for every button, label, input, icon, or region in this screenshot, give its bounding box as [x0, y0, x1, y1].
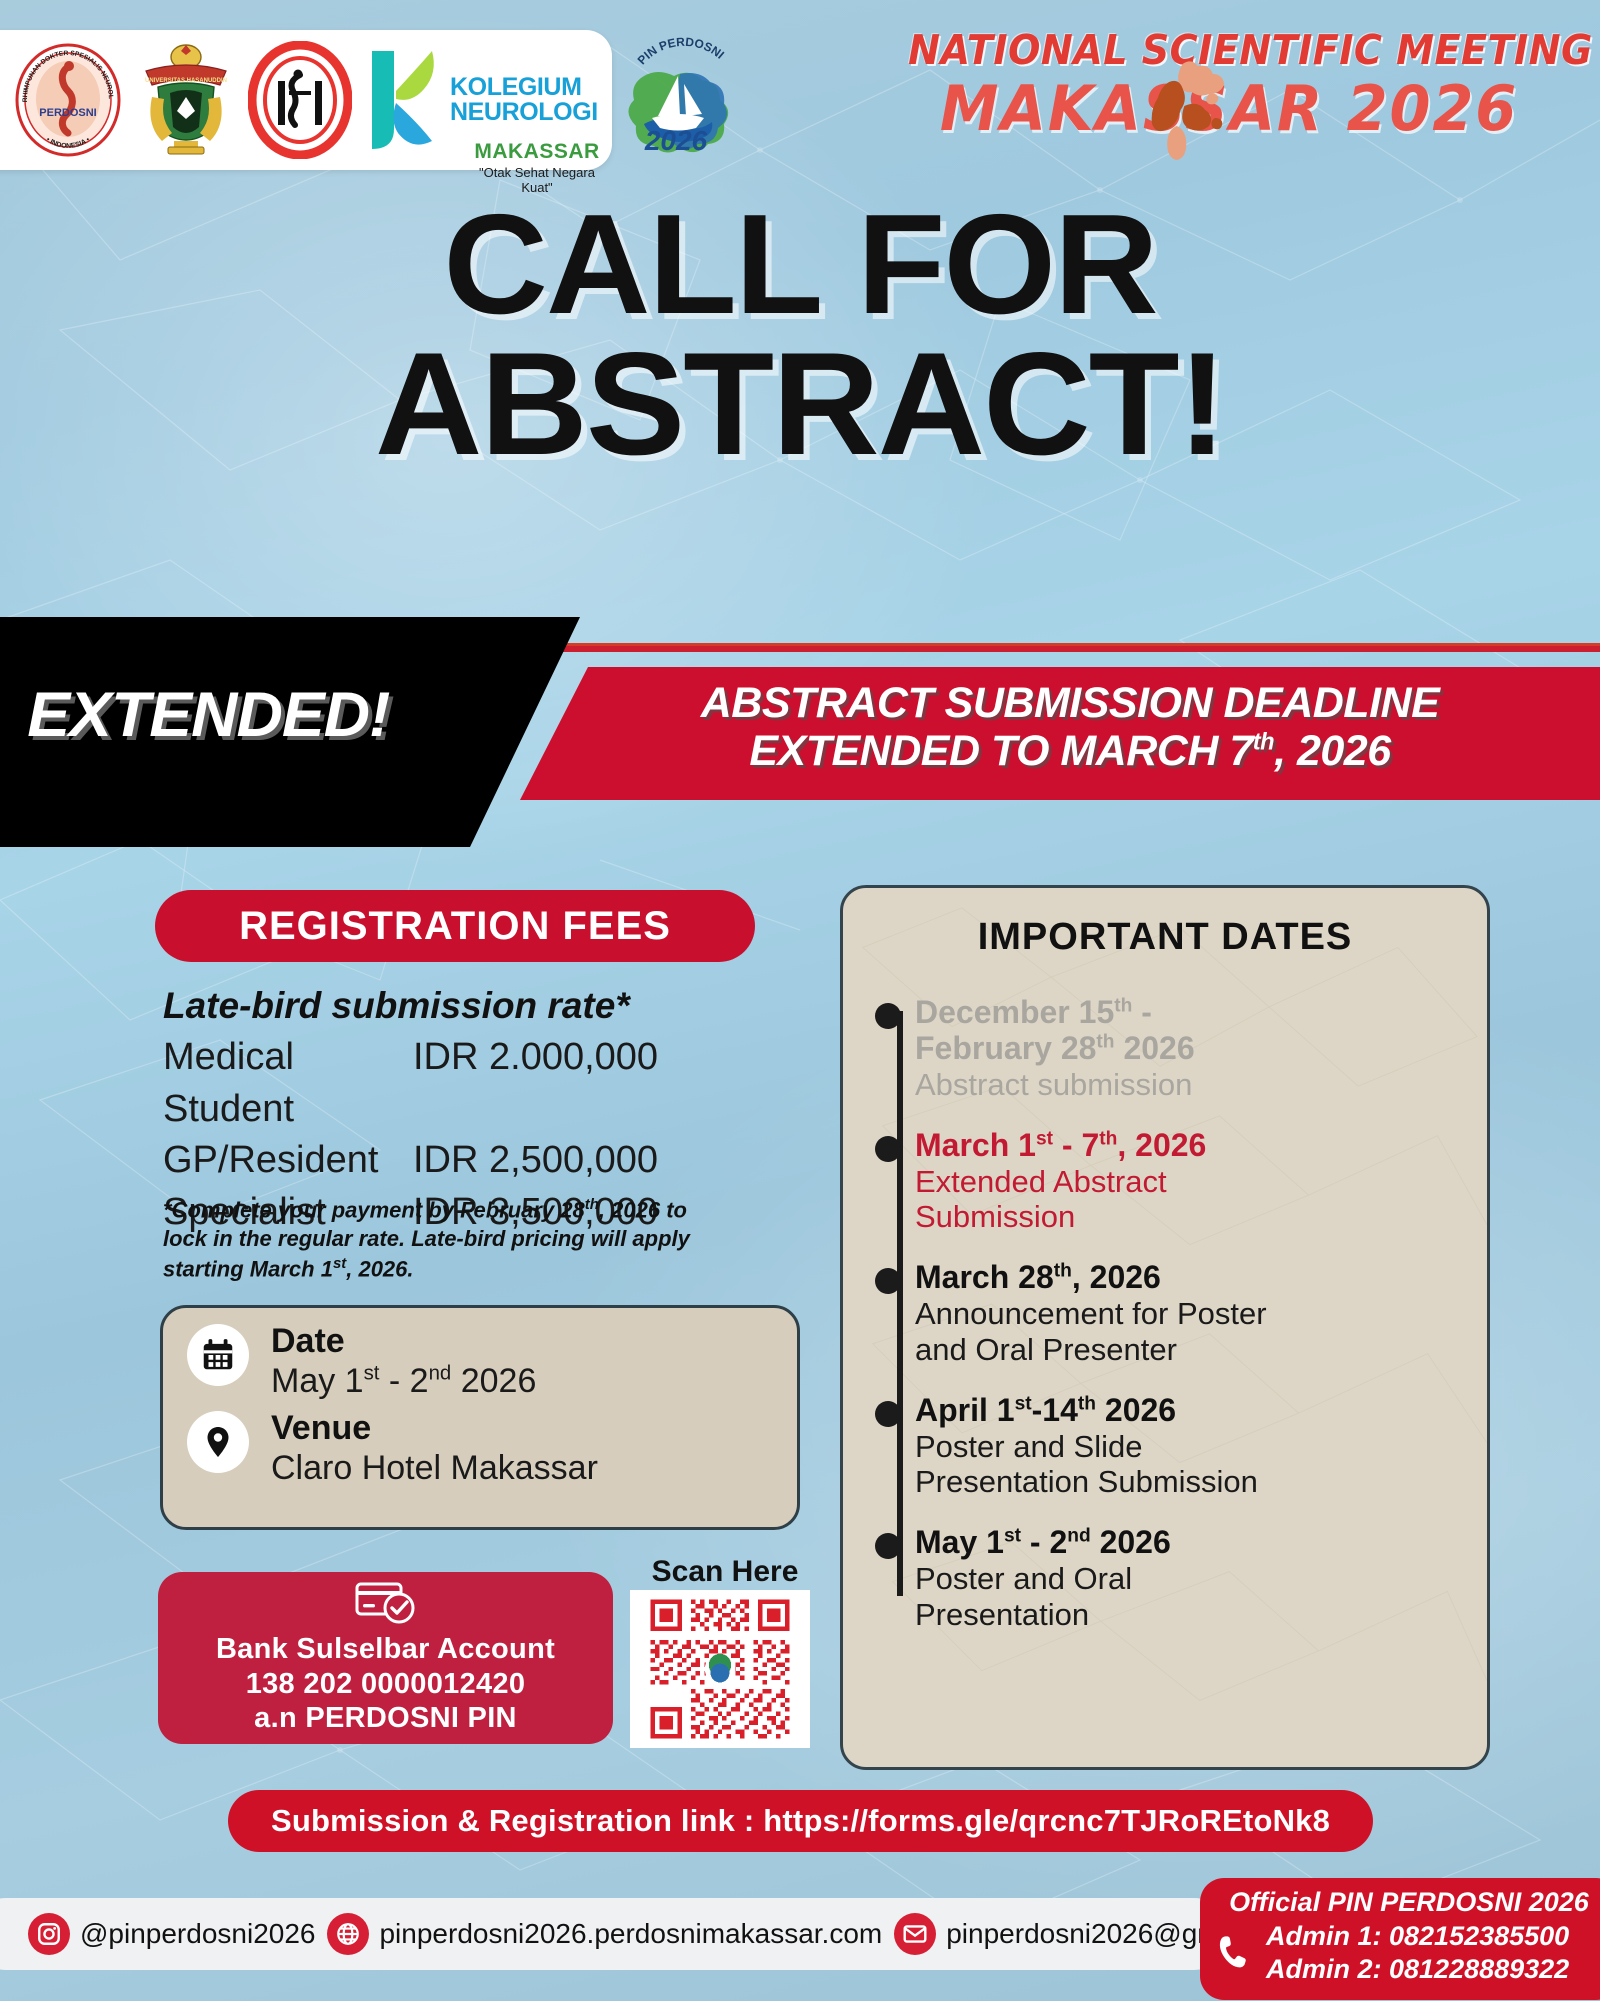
date-pre: May 1 — [271, 1362, 364, 1400]
timeline-dot-icon — [875, 1003, 901, 1029]
sulawesi-map-icon — [1127, 56, 1241, 164]
timeline-date: April 1st-14th 2026 — [915, 1393, 1465, 1429]
extended-deadline-banner: EXTENDED! ABSTRACT SUBMISSION DEADLINE E… — [0, 617, 1600, 847]
bank-account-number: 138 202 0000012420 — [246, 1667, 526, 1702]
website-contact[interactable]: pinperdosni2026.perdosnimakassar.com — [327, 1913, 882, 1955]
timeline-date-2: February 28th 2026 — [915, 1031, 1465, 1067]
instagram-handle: @pinperdosni2026 — [80, 1918, 315, 1950]
card-check-icon — [355, 1580, 417, 1626]
deadline-line-1: ABSTRACT SUBMISSION DEADLINE — [560, 679, 1580, 727]
hero-heading: CALL FOR ABSTRACT! — [0, 198, 1600, 474]
universitas-hasanuddin-logo: UNIVERSITAS HASANUDDIN — [134, 41, 238, 159]
instagram-contact[interactable]: @pinperdosni2026 — [28, 1913, 315, 1955]
timeline-dot-icon — [875, 1136, 901, 1162]
idi-logo — [248, 41, 352, 159]
timeline-date: March 28th, 2026 — [915, 1260, 1465, 1296]
venue-value: Claro Hotel Makassar — [271, 1449, 598, 1488]
fee-row: Medical Student IDR 2.000,000 — [163, 1032, 783, 1135]
pin-logo-caption: MAKASSAR "Otak Sehat Negara Kuat" — [462, 140, 612, 195]
bank-account-holder: a.n PERDOSNI PIN — [254, 1701, 517, 1736]
official-contact-box: Official PIN PERDOSNI 2026 Admin 1: 0821… — [1200, 1878, 1600, 2000]
timeline-desc: Announcement for Poster and Oral Present… — [915, 1296, 1315, 1367]
bank-name: Bank Sulselbar Account — [216, 1632, 555, 1667]
admin-contacts: Admin 1: 082152385500 Admin 2: 081228889… — [1214, 1920, 1600, 1986]
date-sup2: nd — [429, 1363, 452, 1385]
svg-text:2026: 2026 — [644, 125, 708, 156]
venue-row: Venue Claro Hotel Makassar — [163, 1401, 797, 1488]
qr-code-image — [635, 1595, 805, 1743]
fee-label: Medical Student — [163, 1032, 413, 1135]
timeline-desc: Poster and Slide Presentation Submission — [915, 1429, 1315, 1500]
date-value: May 1st - 2nd 2026 — [271, 1362, 536, 1401]
date-row: Date May 1st - 2nd 2026 — [163, 1308, 797, 1401]
location-pin-icon — [187, 1411, 249, 1473]
perdosni-logo: PERDOSNI PERHIMPUNAN DOKTER SPESIALIS NE… — [12, 41, 124, 159]
pin-logo-tagline: "Otak Sehat Negara Kuat" — [462, 165, 612, 195]
svg-text:PERDOSNI: PERDOSNI — [39, 107, 96, 119]
hero-line-1: CALL FOR — [0, 198, 1600, 333]
deadline-line-2-sup: th — [1253, 730, 1274, 756]
fee-footnote-l3-post: , 2026. — [346, 1256, 413, 1281]
fee-footnote-l2: lock in the regular rate. Late-bird pric… — [163, 1226, 690, 1251]
kolegium-neurologi-logo: KOLEGIUM NEUROLOGI — [362, 45, 598, 155]
late-bird-subheading: Late-bird submission rate* — [163, 985, 630, 1027]
important-dates-heading: IMPORTANT DATES — [843, 916, 1487, 959]
fee-footnote-l1-pre: *Complete your payment by February 28 — [163, 1197, 585, 1222]
timeline-item: March 1st - 7th, 2026 Extended Abstract … — [915, 1128, 1465, 1234]
timeline-item: December 15th - February 28th 2026 Abstr… — [915, 995, 1465, 1102]
venue-label: Venue — [271, 1411, 598, 1445]
official-contact-title: Official PIN PERDOSNI 2026 — [1214, 1888, 1600, 1918]
fee-value: IDR 2,500,000 — [413, 1135, 658, 1187]
date-sup1: st — [364, 1363, 380, 1385]
hero-line-2: ABSTRACT! — [0, 335, 1600, 474]
timeline-desc: Poster and Oral Presentation — [915, 1561, 1175, 1632]
bank-account-box: Bank Sulselbar Account 138 202 000001242… — [158, 1572, 613, 1744]
date-label: Date — [271, 1324, 536, 1358]
instagram-icon — [28, 1913, 70, 1955]
svg-text:PIN PERDOSNI: PIN PERDOSNI — [634, 36, 726, 67]
fee-value: IDR 2.000,000 — [413, 1032, 658, 1135]
timeline-item: March 28th, 2026 Announcement for Poster… — [915, 1260, 1465, 1366]
submission-registration-link[interactable]: Submission & Registration link : https:/… — [228, 1790, 1373, 1852]
pin-perdosni-logo: PIN PERDOSNI 2026 MAKASSAR — [614, 36, 754, 164]
registration-qr-code[interactable] — [630, 1590, 810, 1748]
timeline-item: April 1st-14th 2026 Poster and Slide Pre… — [915, 1393, 1465, 1499]
footer-contact-bar: @pinperdosni2026 pinperdosni2026.perdosn… — [0, 1898, 1230, 1970]
deadline-line-2-post: , 2026 — [1274, 727, 1391, 775]
admin-1-phone: Admin 1: 082152385500 — [1266, 1920, 1569, 1953]
fee-row: GP/Resident IDR 2,500,000 — [163, 1135, 783, 1187]
deadline-line-2: EXTENDED TO MARCH 7th, 2026 — [560, 727, 1580, 775]
calendar-icon — [187, 1324, 249, 1386]
date-mid: - 2 — [379, 1362, 428, 1400]
deadline-line-2-pre: EXTENDED TO MARCH 7 — [749, 727, 1252, 775]
fee-footnote-l3-pre: starting March 1 — [163, 1256, 333, 1281]
fee-footnote-l3-sup: st — [333, 1255, 346, 1272]
timeline-date: May 1st - 2nd 2026 — [915, 1525, 1465, 1561]
timeline-dot-icon — [875, 1401, 901, 1427]
globe-icon — [327, 1913, 369, 1955]
timeline-date: December 15th - — [915, 995, 1465, 1031]
meeting-title-line2: MAKASSAR 2026 — [901, 78, 1557, 140]
fee-label: GP/Resident — [163, 1135, 413, 1187]
date-post: 2026 — [451, 1362, 536, 1400]
poster-canvas: PERDOSNI PERHIMPUNAN DOKTER SPESIALIS NE… — [0, 0, 1600, 2001]
fee-footnote-l1-sup: th — [585, 1196, 599, 1213]
event-title-block: NATIONAL SCIENTIFIC MEETING MAKASSAR 202… — [884, 26, 1574, 140]
timeline-spine — [897, 1011, 903, 1596]
admin-2-phone: Admin 2: 081228889322 — [1266, 1953, 1569, 1986]
timeline-desc: Extended Abstract Submission — [915, 1164, 1245, 1235]
timeline-date: March 1st - 7th, 2026 — [915, 1128, 1465, 1164]
important-dates-card: IMPORTANT DATES December 15th - February… — [840, 885, 1490, 1770]
extended-label: EXTENDED! — [27, 679, 506, 751]
phone-icon — [1214, 1931, 1256, 1975]
timeline-item: May 1st - 2nd 2026 Poster and Oral Prese… — [915, 1525, 1465, 1631]
dates-timeline: December 15th - February 28th 2026 Abstr… — [843, 995, 1487, 1632]
fee-footnote: *Complete your payment by February 28th,… — [163, 1195, 803, 1283]
registration-fees-heading: REGISTRATION FEES — [155, 890, 755, 962]
fee-footnote-l1-post: , 2026 to — [599, 1197, 687, 1222]
deadline-text: ABSTRACT SUBMISSION DEADLINE EXTENDED TO… — [560, 679, 1580, 775]
timeline-desc: Abstract submission — [915, 1067, 1465, 1102]
envelope-icon — [894, 1913, 936, 1955]
date-venue-card: Date May 1st - 2nd 2026 Venue Claro Hote… — [160, 1305, 800, 1530]
pin-logo-city: MAKASSAR — [462, 140, 612, 164]
scan-here-label: Scan Here — [635, 1555, 815, 1589]
website-url: pinperdosni2026.perdosnimakassar.com — [379, 1918, 882, 1950]
